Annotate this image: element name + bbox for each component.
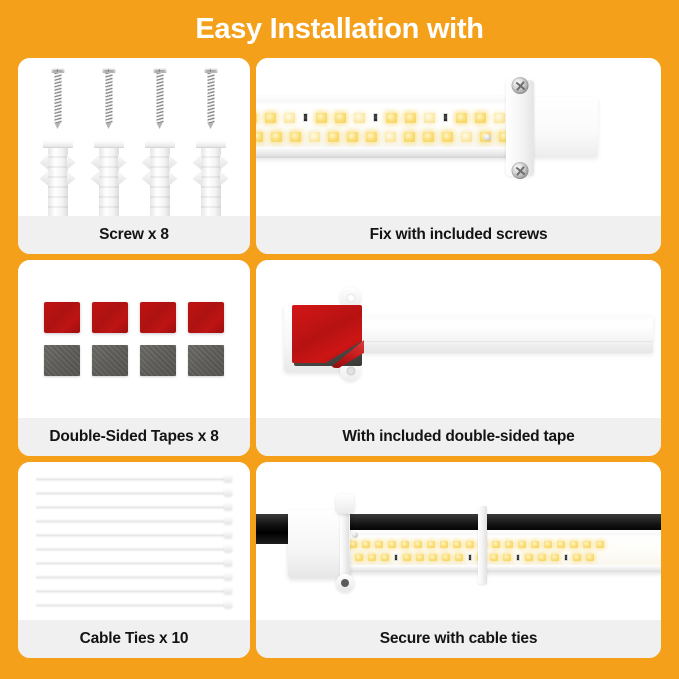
led-chip bbox=[354, 113, 365, 123]
row-cable-ties: Cable Ties x 10 bbox=[18, 462, 661, 658]
led-chip bbox=[583, 541, 591, 548]
card-label-tapes: Double-Sided Tapes x 8 bbox=[18, 418, 250, 456]
led-chip bbox=[368, 554, 376, 561]
cable-tie-wrapped bbox=[340, 502, 349, 584]
anchor-wing bbox=[220, 170, 229, 186]
led-chip bbox=[381, 554, 389, 561]
led-chip bbox=[596, 541, 604, 548]
led-chip bbox=[256, 132, 263, 142]
screw-set bbox=[18, 58, 250, 216]
led-chip bbox=[503, 554, 511, 561]
cable-tie-set bbox=[18, 462, 250, 620]
anchor-wing bbox=[91, 154, 100, 170]
screw-shaft bbox=[105, 73, 112, 123]
cable-tie-scene bbox=[256, 462, 661, 620]
led-chip bbox=[404, 132, 415, 142]
screw-icon bbox=[153, 68, 166, 128]
card-cable-tie-parts: Cable Ties x 10 bbox=[18, 462, 250, 658]
led-chip bbox=[271, 132, 282, 142]
wall-anchor-icon bbox=[145, 140, 175, 216]
led-chip bbox=[551, 554, 559, 561]
card-fix-with-screws: Fix with included screws bbox=[256, 58, 661, 254]
figure-led-bar-screw-mount bbox=[256, 58, 661, 216]
anchor-body bbox=[150, 148, 170, 216]
cable-tie-strap bbox=[36, 519, 224, 522]
card-label-with-tape: With included double-sided tape bbox=[256, 418, 661, 456]
led-chip bbox=[424, 113, 435, 123]
cable-tie-head bbox=[224, 517, 232, 524]
anchor-body bbox=[99, 148, 119, 216]
screw-column bbox=[196, 68, 226, 216]
led-chip bbox=[401, 541, 409, 548]
figure-led-bar-tape-mount bbox=[256, 260, 661, 418]
resistor-component bbox=[516, 554, 520, 561]
led-bar bbox=[256, 96, 530, 158]
resistor-component bbox=[443, 113, 448, 122]
anchor-wing bbox=[169, 154, 178, 170]
cable-tie-head bbox=[224, 601, 232, 608]
screw-tip bbox=[157, 123, 163, 129]
led-chip bbox=[403, 554, 411, 561]
led-chip bbox=[335, 113, 346, 123]
gray-tape-square bbox=[92, 345, 128, 376]
screw-column bbox=[43, 68, 73, 216]
led-chip bbox=[505, 541, 513, 548]
figure-tape-squares bbox=[18, 260, 250, 418]
led-chip bbox=[455, 554, 463, 561]
resistor-component bbox=[373, 113, 378, 122]
anchor-body bbox=[201, 148, 221, 216]
resistor-component bbox=[303, 113, 308, 122]
cable-tie-strap bbox=[36, 477, 224, 480]
mount-hole-ring bbox=[336, 574, 354, 592]
anchor-body bbox=[48, 148, 68, 216]
card-label-screw: Screw x 8 bbox=[18, 216, 250, 254]
screw-shaft bbox=[54, 73, 61, 123]
cable-tie-strap bbox=[36, 547, 224, 550]
led-chip bbox=[570, 541, 578, 548]
cable-tie-icon bbox=[36, 476, 232, 480]
cable-tie-head bbox=[224, 545, 232, 552]
card-secure-with-ties: Secure with cable ties bbox=[256, 462, 661, 658]
card-label-fix-with-screws: Fix with included screws bbox=[256, 216, 661, 254]
anchor-wing bbox=[91, 170, 100, 186]
tape-scene bbox=[256, 260, 661, 418]
led-chip bbox=[494, 113, 505, 123]
card-tape-parts: Double-Sided Tapes x 8 bbox=[18, 260, 250, 456]
cable-tie-head bbox=[224, 559, 232, 566]
led-chip bbox=[388, 541, 396, 548]
anchor-wing bbox=[193, 170, 202, 186]
led-chip bbox=[453, 541, 461, 548]
cable-tie-strap bbox=[36, 505, 224, 508]
led-chip bbox=[309, 132, 320, 142]
screw-shaft bbox=[156, 73, 163, 123]
led-chip bbox=[475, 113, 486, 123]
header: Easy Installation with bbox=[0, 0, 679, 58]
cable-tie-strap bbox=[36, 533, 224, 536]
led-lens bbox=[256, 107, 530, 147]
led-chip bbox=[290, 132, 301, 142]
led-lens bbox=[346, 537, 661, 565]
led-chip bbox=[349, 541, 357, 548]
cable-tie-icon bbox=[36, 560, 232, 564]
led-chip-row-bottom bbox=[349, 554, 661, 562]
red-tape-square bbox=[44, 302, 80, 333]
resistor-component bbox=[394, 554, 398, 561]
led-chip bbox=[256, 113, 257, 123]
led-chip bbox=[375, 541, 383, 548]
cable-tie-head bbox=[224, 503, 232, 510]
page-title: Easy Installation with bbox=[195, 15, 483, 44]
cable-tie-wrapped bbox=[478, 506, 487, 584]
wall-anchor-icon bbox=[43, 140, 73, 216]
screw-tip bbox=[106, 123, 112, 129]
led-chip bbox=[544, 541, 552, 548]
screw-column bbox=[94, 68, 124, 216]
led-chip bbox=[456, 113, 467, 123]
led-chip bbox=[442, 132, 453, 142]
anchor-wing bbox=[67, 154, 76, 170]
cable-tie-strap bbox=[36, 561, 224, 564]
led-chip bbox=[423, 132, 434, 142]
cable-tie-head bbox=[336, 494, 354, 514]
mounting-screw-icon bbox=[512, 162, 529, 179]
tape-row-gray bbox=[44, 345, 224, 376]
card-label-secure-with-ties: Secure with cable ties bbox=[256, 620, 661, 658]
led-chip bbox=[557, 541, 565, 548]
screw-tip bbox=[208, 123, 214, 129]
row-screws: Screw x 8 bbox=[18, 58, 661, 254]
tape-row-red bbox=[44, 302, 224, 333]
led-chip bbox=[328, 132, 339, 142]
figure-cable-ties bbox=[18, 462, 250, 620]
mounting-screw-icon bbox=[512, 77, 529, 94]
cable-tie-icon bbox=[36, 504, 232, 508]
led-chip bbox=[355, 554, 363, 561]
led-chip bbox=[316, 113, 327, 123]
cable-tie-head bbox=[224, 587, 232, 594]
led-chip bbox=[531, 541, 539, 548]
led-chip-row-top bbox=[256, 112, 526, 123]
screw-shaft bbox=[207, 73, 214, 123]
cable-tie-strap bbox=[36, 589, 224, 592]
led-chip bbox=[284, 113, 295, 123]
anchor-wing bbox=[67, 170, 76, 186]
cable-tie-icon bbox=[36, 546, 232, 550]
cable-tie-strap bbox=[36, 491, 224, 494]
card-label-cable-ties: Cable Ties x 10 bbox=[18, 620, 250, 658]
installation-infographic: Easy Installation with bbox=[0, 0, 679, 679]
cable-tie-head bbox=[224, 475, 232, 482]
anchor-wing bbox=[169, 170, 178, 186]
led-chip bbox=[427, 541, 435, 548]
led-chip bbox=[386, 113, 397, 123]
red-tape-square bbox=[92, 302, 128, 333]
led-bar-back-side bbox=[333, 315, 653, 353]
cable-tie-head bbox=[224, 489, 232, 496]
anchor-wing bbox=[142, 154, 151, 170]
screw-column bbox=[145, 68, 175, 216]
led-chip bbox=[442, 554, 450, 561]
led-chip bbox=[461, 132, 472, 142]
anchor-wing bbox=[118, 170, 127, 186]
cable-tie-icon bbox=[36, 574, 232, 578]
cable-tie-icon bbox=[36, 602, 232, 606]
anchor-wing bbox=[220, 154, 229, 170]
figure-screws-and-anchors bbox=[18, 58, 250, 216]
figure-led-bar-tie-mount bbox=[256, 462, 661, 620]
cable-tie-icon bbox=[36, 532, 232, 536]
screw-tip bbox=[55, 123, 61, 129]
anchor-flange bbox=[94, 140, 124, 148]
red-tape-square bbox=[188, 302, 224, 333]
led-chip bbox=[466, 541, 474, 548]
led-chip bbox=[525, 554, 533, 561]
led-chip bbox=[265, 113, 276, 123]
cable-tie-head bbox=[224, 573, 232, 580]
anchor-flange bbox=[43, 140, 73, 148]
led-chip bbox=[586, 554, 594, 561]
cable-tie-icon bbox=[36, 490, 232, 494]
led-scene-screws bbox=[256, 58, 661, 216]
anchor-wing bbox=[118, 154, 127, 170]
led-chip bbox=[492, 541, 500, 548]
mount-hole-ring bbox=[340, 287, 361, 308]
screw-icon bbox=[102, 68, 115, 128]
led-chip bbox=[490, 554, 498, 561]
cable-tie-icon bbox=[36, 588, 232, 592]
led-chip bbox=[366, 132, 377, 142]
small-screw-icon bbox=[484, 134, 491, 141]
card-screw-parts: Screw x 8 bbox=[18, 58, 250, 254]
wall-anchor-icon bbox=[196, 140, 226, 216]
anchor-wing bbox=[142, 170, 151, 186]
cards-grid: Screw x 8 bbox=[18, 58, 661, 658]
screw-icon bbox=[204, 68, 217, 128]
small-screw-icon bbox=[352, 532, 358, 538]
led-chip bbox=[538, 554, 546, 561]
anchor-wing bbox=[40, 170, 49, 186]
anchor-flange bbox=[145, 140, 175, 148]
mounting-bracket bbox=[506, 80, 534, 176]
led-chip bbox=[416, 554, 424, 561]
anchor-flange bbox=[196, 140, 226, 148]
anchor-wing bbox=[193, 154, 202, 170]
led-chip bbox=[429, 554, 437, 561]
row-tapes: Double-Sided Tapes x 8 With included dou… bbox=[18, 260, 661, 456]
gray-tape-square bbox=[44, 345, 80, 376]
cable-tie-strap bbox=[36, 603, 224, 606]
cable-tie-head bbox=[224, 531, 232, 538]
anchor-wing bbox=[40, 154, 49, 170]
led-chip bbox=[362, 541, 370, 548]
gray-tape-square bbox=[140, 345, 176, 376]
resistor-component bbox=[468, 554, 472, 561]
led-chip bbox=[347, 132, 358, 142]
led-chip bbox=[385, 132, 396, 142]
led-bar-end-cap bbox=[528, 97, 598, 157]
gray-tape-square bbox=[188, 345, 224, 376]
screw-icon bbox=[51, 68, 64, 128]
tape-set bbox=[18, 260, 250, 418]
wall-anchor-icon bbox=[94, 140, 124, 216]
resistor-component bbox=[564, 554, 568, 561]
card-with-tape: With included double-sided tape bbox=[256, 260, 661, 456]
led-chip bbox=[414, 541, 422, 548]
red-tape-square bbox=[140, 302, 176, 333]
led-chip bbox=[405, 113, 416, 123]
led-bar bbox=[346, 530, 661, 572]
cable-tie-icon bbox=[36, 518, 232, 522]
led-chip-row-top bbox=[349, 541, 661, 549]
cable-tie-strap bbox=[36, 575, 224, 578]
led-chip bbox=[573, 554, 581, 561]
led-chip bbox=[440, 541, 448, 548]
led-chip bbox=[518, 541, 526, 548]
